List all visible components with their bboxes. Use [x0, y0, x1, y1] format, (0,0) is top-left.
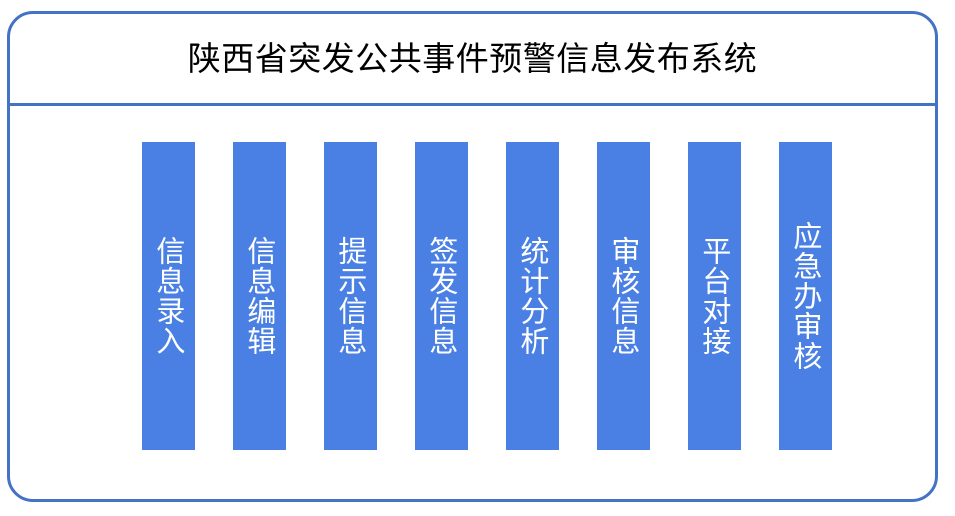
module-bar-label: 信息编辑	[244, 236, 275, 356]
module-bar[interactable]: 应急办审核	[779, 142, 832, 450]
module-bar[interactable]: 提示信息	[324, 142, 377, 450]
module-bar[interactable]: 签发信息	[415, 142, 468, 450]
title-band: 陕西省突发公共事件预警信息发布系统	[10, 14, 935, 105]
module-bar-label: 审核信息	[608, 236, 639, 356]
module-bar-label: 信息录入	[153, 236, 184, 356]
system-frame: 陕西省突发公共事件预警信息发布系统 信息录入信息编辑提示信息签发信息统计分析审核…	[7, 11, 938, 502]
module-bar-label: 签发信息	[426, 236, 457, 356]
module-bar[interactable]: 信息录入	[142, 142, 195, 450]
module-bar[interactable]: 审核信息	[597, 142, 650, 450]
diagram-canvas: 陕西省突发公共事件预警信息发布系统 信息录入信息编辑提示信息签发信息统计分析审核…	[0, 0, 955, 516]
module-bar-label: 提示信息	[335, 236, 366, 356]
module-bar-label: 平台对接	[699, 236, 730, 356]
module-bars-container: 信息录入信息编辑提示信息签发信息统计分析审核信息平台对接应急办审核	[10, 106, 935, 499]
module-bar-label: 统计分析	[517, 236, 548, 356]
module-bar[interactable]: 统计分析	[506, 142, 559, 450]
module-bar[interactable]: 信息编辑	[233, 142, 286, 450]
module-bar[interactable]: 平台对接	[688, 142, 741, 450]
system-title: 陕西省突发公共事件预警信息发布系统	[188, 41, 758, 77]
module-bar-label: 应急办审核	[790, 221, 821, 371]
